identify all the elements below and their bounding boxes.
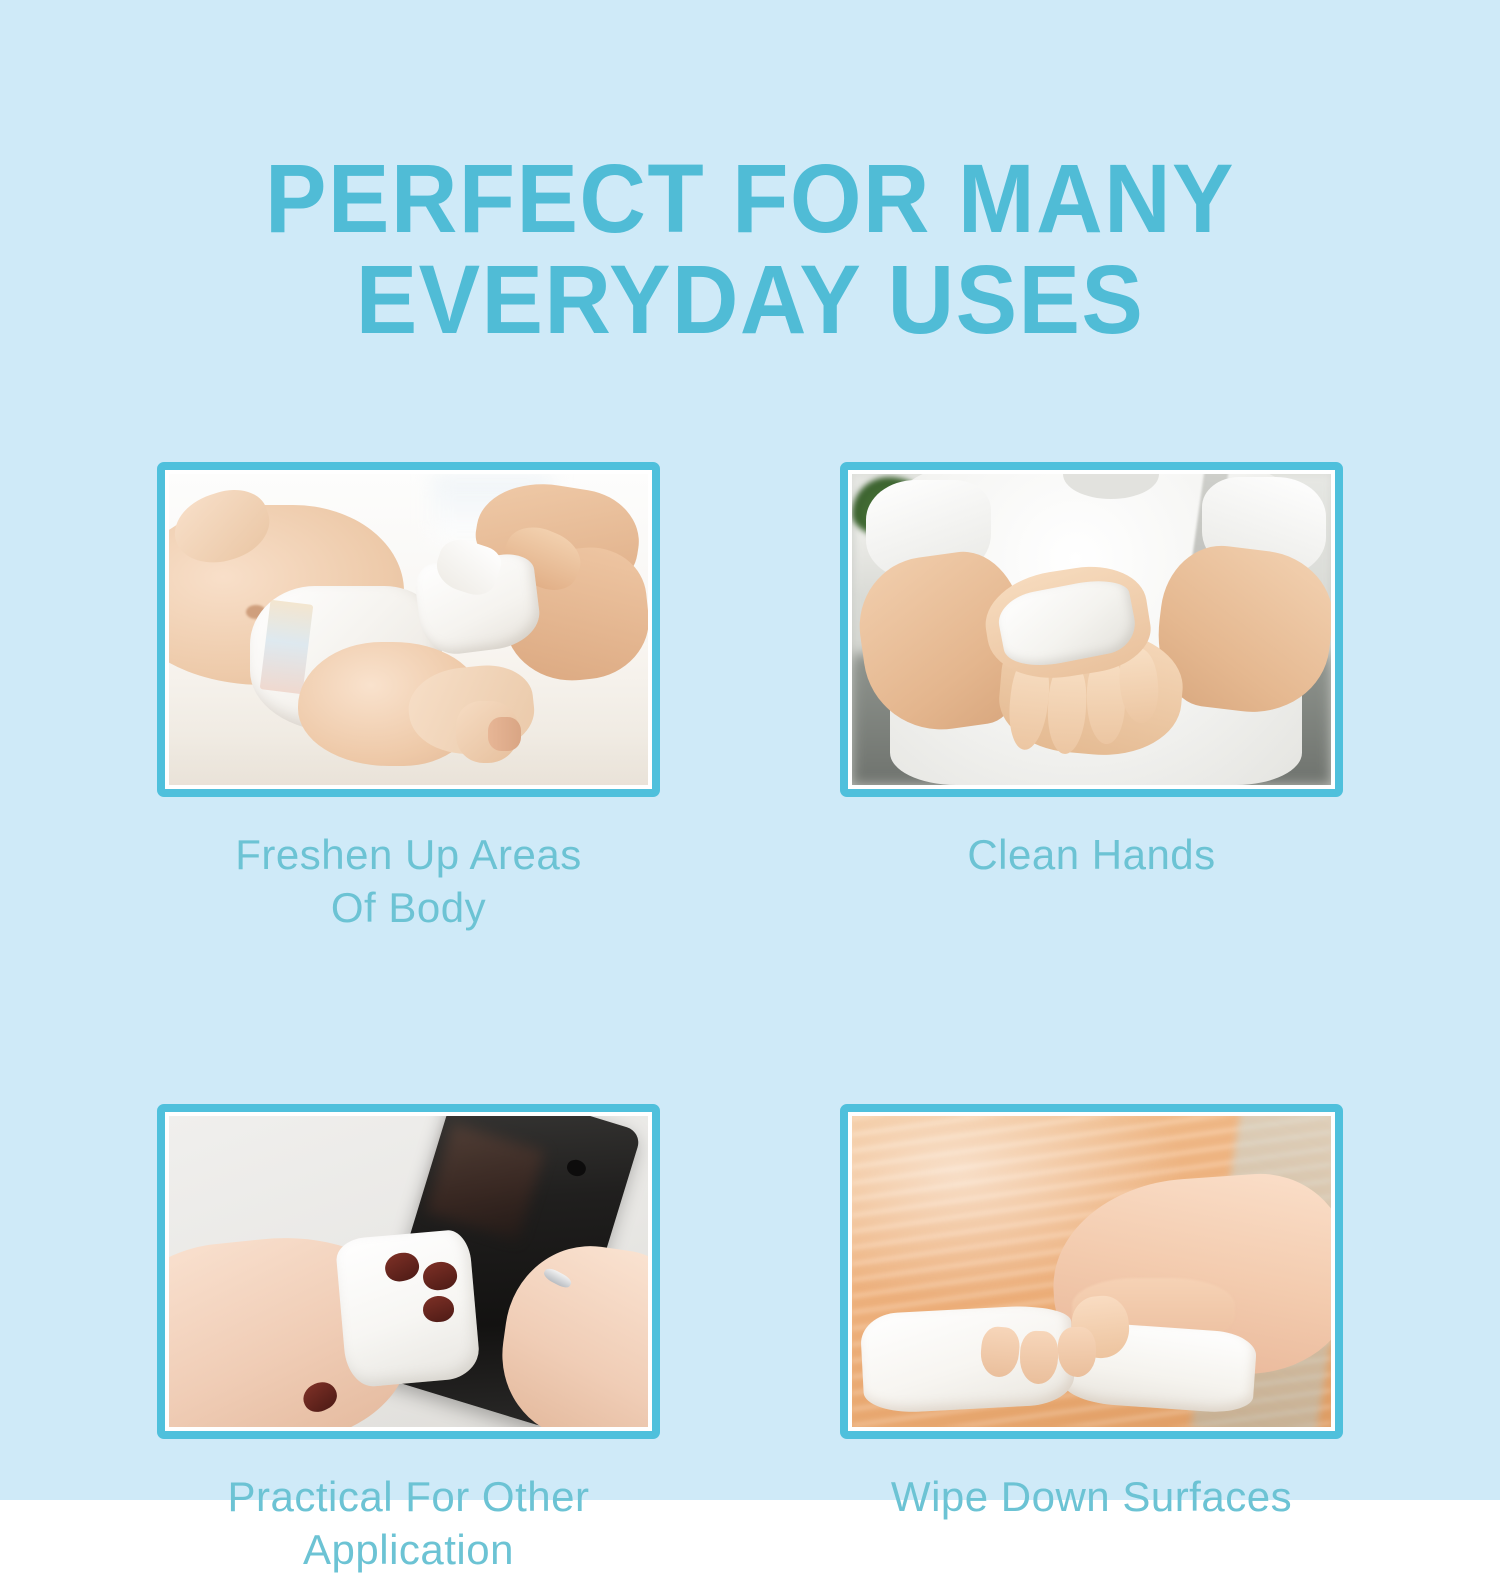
use-case-card-freshen-up-areas-of-body: Freshen Up Areas Of Body [157, 462, 660, 934]
use-case-caption: Clean Hands [840, 828, 1343, 881]
photo-frame [840, 462, 1343, 797]
use-case-card-wipe-down-surfaces: Wipe Down Surfaces [840, 1104, 1343, 1576]
use-case-card-clean-hands: Clean Hands [840, 462, 1343, 934]
page-title-line-2: EVERYDAY USES [38, 249, 1463, 350]
use-case-grid: Freshen Up Areas Of Body [157, 462, 1343, 1576]
page-title: PERFECT FOR MANY EVERYDAY USES [0, 148, 1500, 350]
photo-baby-wipe [169, 474, 648, 785]
photo-phone-wipe [169, 1116, 648, 1427]
photo-frame [157, 462, 660, 797]
use-case-row-top: Freshen Up Areas Of Body [157, 462, 1343, 934]
use-case-card-practical-for-other-application: Practical For Other Application [157, 1104, 660, 1576]
use-case-caption: Freshen Up Areas Of Body [157, 828, 660, 934]
photo-surface-wipe [852, 1116, 1331, 1427]
page-title-line-1: PERFECT FOR MANY [38, 148, 1463, 249]
baby-toes-shape [488, 717, 522, 751]
use-case-row-bottom: Practical For Other Application [157, 1104, 1343, 1576]
photo-frame [157, 1104, 660, 1439]
use-case-caption: Wipe Down Surfaces [840, 1470, 1343, 1523]
product-feature-infographic: PERFECT FOR MANY EVERYDAY USES [0, 0, 1500, 1500]
photo-frame [840, 1104, 1343, 1439]
use-case-caption: Practical For Other Application [157, 1470, 660, 1576]
photo-clean-hands [852, 474, 1331, 785]
